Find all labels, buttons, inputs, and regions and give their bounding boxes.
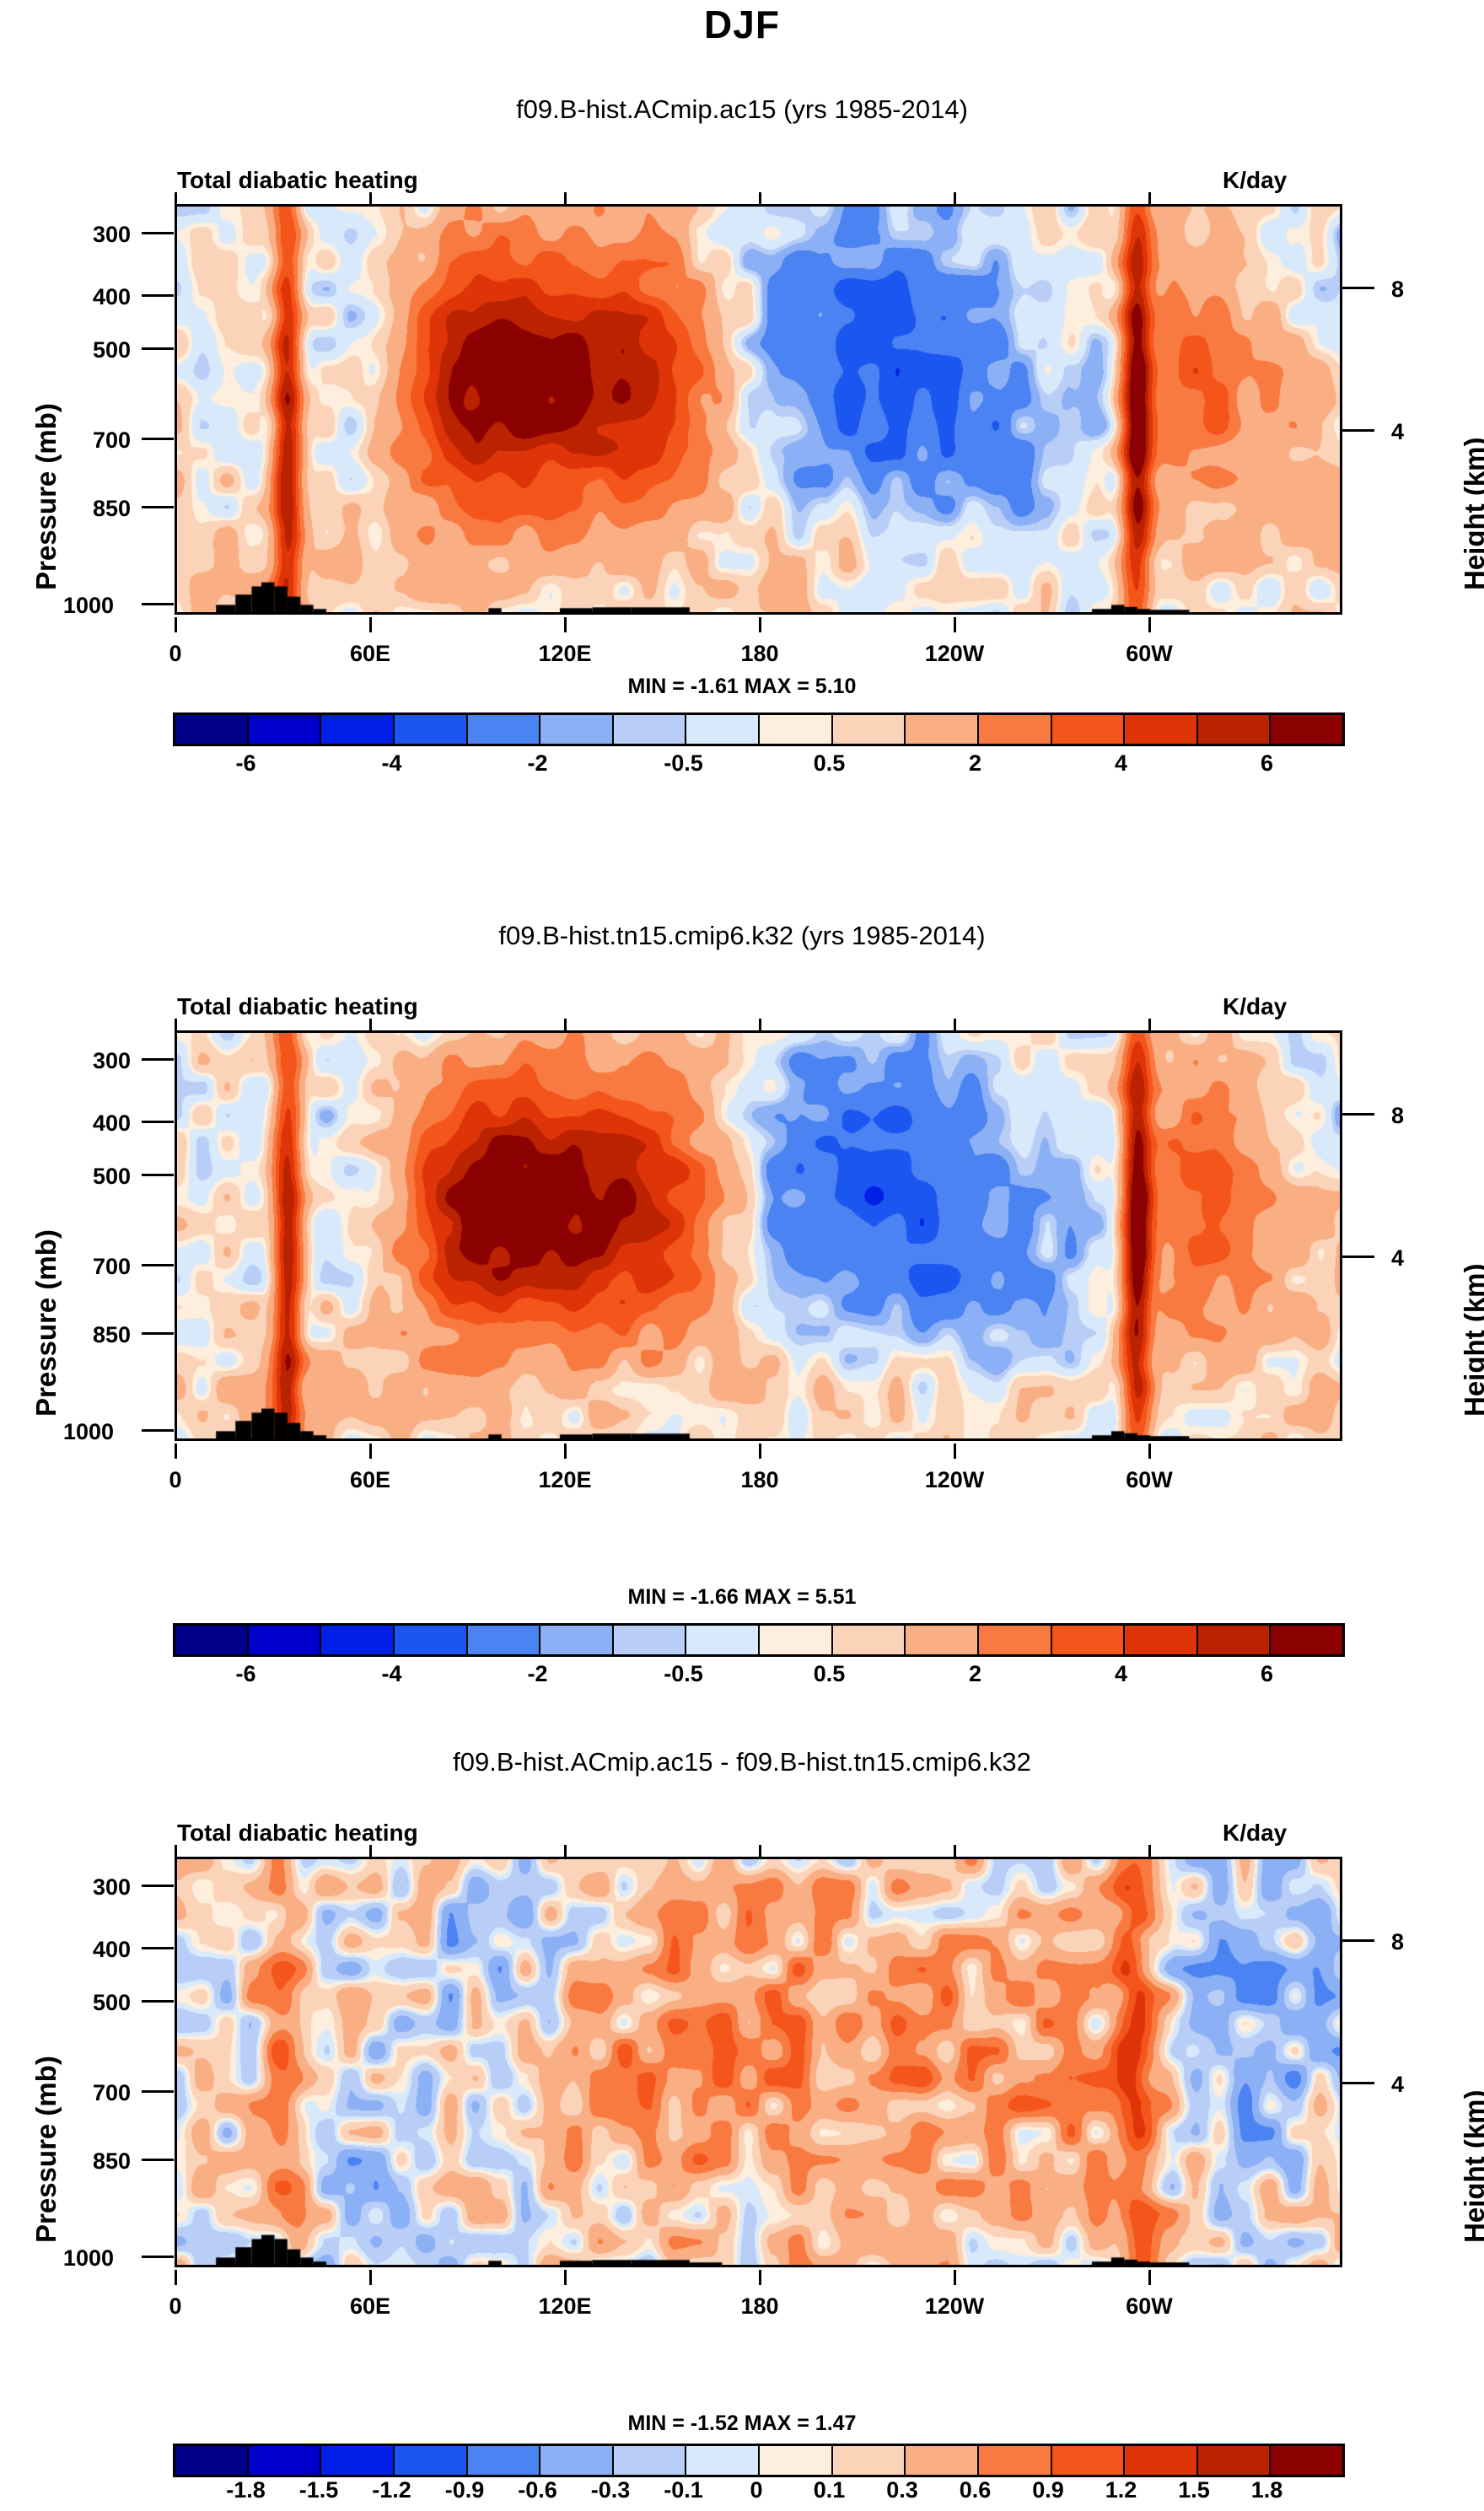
colorbar-tick-label: -4: [354, 1661, 430, 1687]
panel-3-units-label: K/day: [1223, 1820, 1287, 1847]
colorbar-tick-label: -0.6: [500, 2477, 576, 2503]
colorbar-segment: [1198, 715, 1272, 744]
colorbar-tick-label: -6: [208, 750, 284, 777]
panel-1-ytick-mark: [142, 603, 174, 605]
panel-3-y2-axis-label: Height (km): [1459, 2090, 1484, 2244]
colorbar-tick-label: 0.3: [864, 2477, 940, 2503]
panel-3-xtick-mark: [564, 2270, 567, 2285]
panel-1-ytick-700: 700: [38, 427, 131, 454]
panel-1-y2tick-4: 4: [1391, 419, 1442, 445]
colorbar-segment: [1052, 2446, 1126, 2475]
colorbar-segment: [1125, 715, 1198, 744]
panel-1-xtick-mark: [1148, 617, 1151, 632]
panel-3-ytick-mark: [142, 1947, 174, 1949]
panel-1-ytick-300: 300: [38, 222, 131, 248]
panel-1-ytick-mark: [142, 438, 174, 440]
panel-3-y2tick-4: 4: [1391, 2072, 1442, 2098]
colorbar-tick-label: 0.5: [792, 750, 868, 777]
panel-2-minmax: MIN = -1.66 MAX = 5.51: [0, 1585, 1484, 1610]
panel-3-title: f09.B-hist.ACmip.ac15 - f09.B-hist.tn15.…: [0, 1747, 1484, 1777]
colorbar-segment: [906, 1626, 979, 1654]
panel-1-y2tick-mark: [1342, 287, 1374, 289]
panel-2-xtick-mark: [759, 1444, 761, 1459]
colorbar-segment: [175, 1626, 249, 1654]
panel-1-minmax: MIN = -1.61 MAX = 5.10: [0, 675, 1484, 699]
panel-3-ytick-1000: 1000: [21, 2245, 114, 2272]
colorbar-tick-label: -1.2: [354, 2477, 430, 2503]
colorbar-segment: [833, 715, 906, 744]
colorbar-segment: [686, 1626, 760, 1654]
panel-3-ytick-700: 700: [38, 2080, 131, 2106]
panel-1-xtick-60W: 60W: [1099, 641, 1200, 667]
colorbar-tick-label: -2: [500, 750, 576, 777]
colorbar-segment: [1198, 2446, 1272, 2475]
panel-2-y2tick-4: 4: [1391, 1245, 1442, 1272]
panel-1-top-ticks: [0, 192, 1484, 204]
panel-3-xtick-120W: 120W: [904, 2293, 1005, 2320]
panel-3-xtick-mark: [954, 2270, 956, 2285]
colorbar-tick-label: 0: [718, 2477, 794, 2503]
panel-2-ytick-850: 850: [38, 1322, 131, 1348]
colorbar-tick-label: -0.5: [646, 750, 722, 777]
colorbar-segment: [833, 1626, 906, 1654]
panel-1-xtick-0: 0: [125, 641, 226, 667]
colorbar-segment: [906, 2446, 979, 2475]
colorbar-segment: [760, 715, 833, 744]
colorbar-tick-label: -0.5: [646, 1661, 722, 1687]
panel-1-ytick-850: 850: [38, 496, 131, 522]
panel-2-units-label: K/day: [1223, 993, 1287, 1020]
colorbar-segment: [249, 1626, 322, 1654]
colorbar-segment: [395, 2446, 468, 2475]
colorbar-segment: [321, 2446, 395, 2475]
panel-3-ytick-mark: [142, 2000, 174, 2003]
colorbar-tick-label: -1.5: [281, 2477, 357, 2503]
panel-2-title: f09.B-hist.tn15.cmip6.k32 (yrs 1985-2014…: [0, 921, 1484, 951]
panel-2-ytick-mark: [142, 1264, 174, 1266]
colorbar-segment: [1271, 2446, 1342, 2475]
colorbar-segment: [1198, 1626, 1272, 1654]
colorbar-segment: [979, 715, 1052, 744]
panel-1-xtick-mark: [564, 617, 567, 632]
panel-2-ytick-mark: [142, 1174, 174, 1176]
colorbar-tick-label: 0.1: [792, 2477, 868, 2503]
colorbar-tick-label: -0.3: [573, 2477, 648, 2503]
colorbar-segment: [395, 715, 468, 744]
panel-3-xtick-60E: 60E: [320, 2293, 421, 2320]
panel-2-xtick-mark: [175, 1444, 177, 1459]
panel-2-xtick-120E: 120E: [514, 1467, 616, 1493]
colorbar-segment: [1125, 1626, 1198, 1654]
panel-2-variable-label: Total diabatic heating: [177, 993, 418, 1020]
panel-3-xtick-mark: [369, 2270, 372, 2285]
panel-2-colorbar-labels: -6-4-2-0.50.5246: [173, 1661, 1345, 1695]
colorbar-segment: [614, 1626, 687, 1654]
panel-2-colorbar: [173, 1623, 1345, 1657]
colorbar-segment: [540, 715, 614, 744]
panel-3-xtick-mark: [175, 2270, 177, 2285]
colorbar-segment: [175, 715, 249, 744]
panel-2-xtick-mark: [369, 1444, 372, 1459]
colorbar-tick-label: 1.8: [1229, 2477, 1305, 2503]
panel-1-xtick-180: 180: [709, 641, 810, 667]
colorbar-segment: [1125, 2446, 1198, 2475]
panel-3-y2tick-8: 8: [1391, 1929, 1442, 1955]
colorbar-tick-label: -0.1: [646, 2477, 722, 2503]
panel-2-y2-axis-label: Height (km): [1459, 1264, 1484, 1417]
panel-2-ytick-mark: [142, 1429, 174, 1432]
panel-3-ytick-500: 500: [38, 1990, 131, 2016]
colorbar-tick-label: 2: [938, 1661, 1014, 1687]
panel-1-xtick-60E: 60E: [320, 641, 421, 667]
panel-1-ytick-400: 400: [38, 284, 131, 310]
colorbar-tick-label: 0.6: [938, 2477, 1014, 2503]
panel-3-ytick-mark: [142, 2159, 174, 2161]
colorbar-tick-label: -0.9: [427, 2477, 503, 2503]
panel-1-y2-axis-label: Height (km): [1459, 438, 1484, 591]
panel-2-ytick-700: 700: [38, 1254, 131, 1280]
colorbar-segment: [1271, 1626, 1342, 1654]
colorbar-tick-label: 4: [1083, 750, 1159, 777]
panel-2-plot: [175, 1030, 1342, 1441]
panel-1-xtick-mark: [954, 617, 956, 632]
panel-3-xtick-mark: [1148, 2270, 1151, 2285]
panel-1-ytick-mark: [142, 232, 174, 234]
colorbar-tick-label: 4: [1083, 1661, 1159, 1687]
panel-3-ytick-300: 300: [38, 1874, 131, 1901]
panel-2-xtick-mark: [1148, 1444, 1151, 1459]
colorbar-segment: [321, 1626, 395, 1654]
panel-1-ytick-mark: [142, 294, 174, 297]
colorbar-segment: [979, 2446, 1052, 2475]
panel-1-colorbar-labels: -6-4-2-0.50.5246: [173, 750, 1345, 784]
panel-1-xtick-120W: 120W: [904, 641, 1005, 667]
main-title: DJF: [0, 2, 1484, 47]
colorbar-tick-label: 0.9: [1010, 2477, 1086, 2503]
colorbar-segment: [395, 1626, 468, 1654]
panel-3-ytick-mark: [142, 1885, 174, 1887]
colorbar-segment: [686, 2446, 760, 2475]
colorbar-tick-label: 0.5: [792, 1661, 868, 1687]
colorbar-segment: [906, 715, 979, 744]
panel-1-variable-label: Total diabatic heating: [177, 167, 418, 194]
colorbar-segment: [540, 2446, 614, 2475]
panel-2-ytick-mark: [142, 1058, 174, 1061]
panel-3-xtick-120E: 120E: [514, 2293, 616, 2320]
panel-3-y2tick-mark: [1342, 1939, 1374, 1942]
colorbar-segment: [686, 715, 760, 744]
panel-1-title: f09.B-hist.ACmip.ac15 (yrs 1985-2014): [0, 94, 1484, 125]
panel-3-ytick-400: 400: [38, 1937, 131, 1963]
panel-1-ytick-500: 500: [38, 337, 131, 363]
colorbar-segment: [614, 2446, 687, 2475]
panel-1-ytick-mark: [142, 506, 174, 508]
panel-2-xtick-120W: 120W: [904, 1467, 1005, 1493]
panel-3-xtick-60W: 60W: [1099, 2293, 1200, 2320]
panel-2-xtick-mark: [954, 1444, 956, 1459]
colorbar-segment: [1052, 715, 1126, 744]
colorbar-segment: [540, 1626, 614, 1654]
colorbar-tick-label: -6: [208, 1661, 284, 1687]
colorbar-tick-label: -1.8: [208, 2477, 284, 2503]
panel-1-xtick-mark: [175, 617, 177, 632]
panel-2-xtick-60E: 60E: [320, 1467, 421, 1493]
colorbar-tick-label: -2: [500, 1661, 576, 1687]
panel-3-variable-label: Total diabatic heating: [177, 1820, 418, 1847]
colorbar-tick-label: 1.5: [1156, 2477, 1232, 2503]
colorbar-tick-label: 1.2: [1083, 2477, 1159, 2503]
panel-3-colorbar-labels: -1.8-1.5-1.2-0.9-0.6-0.3-0.100.10.30.60.…: [173, 2477, 1345, 2511]
panel-2-y2tick-mark: [1342, 1255, 1374, 1258]
colorbar-segment: [249, 715, 322, 744]
colorbar-segment: [468, 715, 541, 744]
panel-3-xtick-mark: [759, 2270, 761, 2285]
panel-3-heatmap-canvas: [177, 1859, 1342, 2267]
panel-2-ytick-1000: 1000: [21, 1419, 114, 1445]
colorbar-segment: [468, 1626, 541, 1654]
colorbar-segment: [249, 2446, 322, 2475]
colorbar-segment: [760, 2446, 833, 2475]
panel-2-top-ticks: [0, 1019, 1484, 1030]
panel-3-ytick-mark: [142, 2256, 174, 2258]
colorbar-tick-label: 2: [938, 750, 1014, 777]
colorbar-segment: [1052, 1626, 1126, 1654]
panel-3-ytick-850: 850: [38, 2148, 131, 2175]
panel-3-minmax: MIN = -1.52 MAX = 1.47: [0, 2412, 1484, 2436]
panel-2-xtick-60W: 60W: [1099, 1467, 1200, 1493]
panel-3-y2tick-mark: [1342, 2082, 1374, 2084]
panel-2-ytick-mark: [142, 1332, 174, 1335]
panel-3-xtick-0: 0: [125, 2293, 226, 2320]
panel-2-y2tick-mark: [1342, 1113, 1374, 1116]
panel-2-y2tick-8: 8: [1391, 1103, 1442, 1129]
panel-2-ytick-400: 400: [38, 1110, 131, 1137]
colorbar-segment: [833, 2446, 906, 2475]
colorbar-segment: [760, 1626, 833, 1654]
panel-1-colorbar: [173, 712, 1345, 746]
panel-3-xtick-180: 180: [709, 2293, 810, 2320]
panel-2-heatmap-canvas: [177, 1033, 1342, 1441]
colorbar-segment: [468, 2446, 541, 2475]
colorbar-tick-label: 6: [1229, 750, 1305, 777]
panel-1-units-label: K/day: [1223, 167, 1287, 194]
colorbar-segment: [175, 2446, 249, 2475]
panel-3-top-ticks: [0, 1845, 1484, 1857]
panel-2-ytick-mark: [142, 1121, 174, 1123]
figure-page: DJF f09.B-hist.ACmip.ac15 (yrs 1985-2014…: [0, 0, 1484, 2508]
colorbar-segment: [979, 1626, 1052, 1654]
panel-1-y2tick-mark: [1342, 429, 1374, 432]
colorbar-tick-label: -4: [354, 750, 430, 777]
panel-2-ytick-300: 300: [38, 1048, 131, 1074]
panel-1-plot: [175, 204, 1342, 615]
colorbar-tick-label: 6: [1229, 1661, 1305, 1687]
panel-2-xtick-0: 0: [125, 1467, 226, 1493]
panel-2-ytick-500: 500: [38, 1164, 131, 1190]
panel-1-y2tick-8: 8: [1391, 277, 1442, 303]
panel-3-colorbar: [173, 2444, 1345, 2477]
panel-2-xtick-180: 180: [709, 1467, 810, 1493]
panel-1-heatmap-canvas: [177, 207, 1342, 615]
panel-1-xtick-120E: 120E: [514, 641, 616, 667]
panel-3-ytick-mark: [142, 2090, 174, 2093]
panel-1-ytick-1000: 1000: [21, 593, 114, 619]
panel-1-xtick-mark: [759, 617, 761, 632]
panel-3-plot: [175, 1857, 1342, 2267]
colorbar-segment: [1271, 715, 1342, 744]
colorbar-segment: [614, 715, 687, 744]
panel-1-xtick-mark: [369, 617, 372, 632]
panel-1-ytick-mark: [142, 347, 174, 350]
panel-2-xtick-mark: [564, 1444, 567, 1459]
colorbar-segment: [321, 715, 395, 744]
